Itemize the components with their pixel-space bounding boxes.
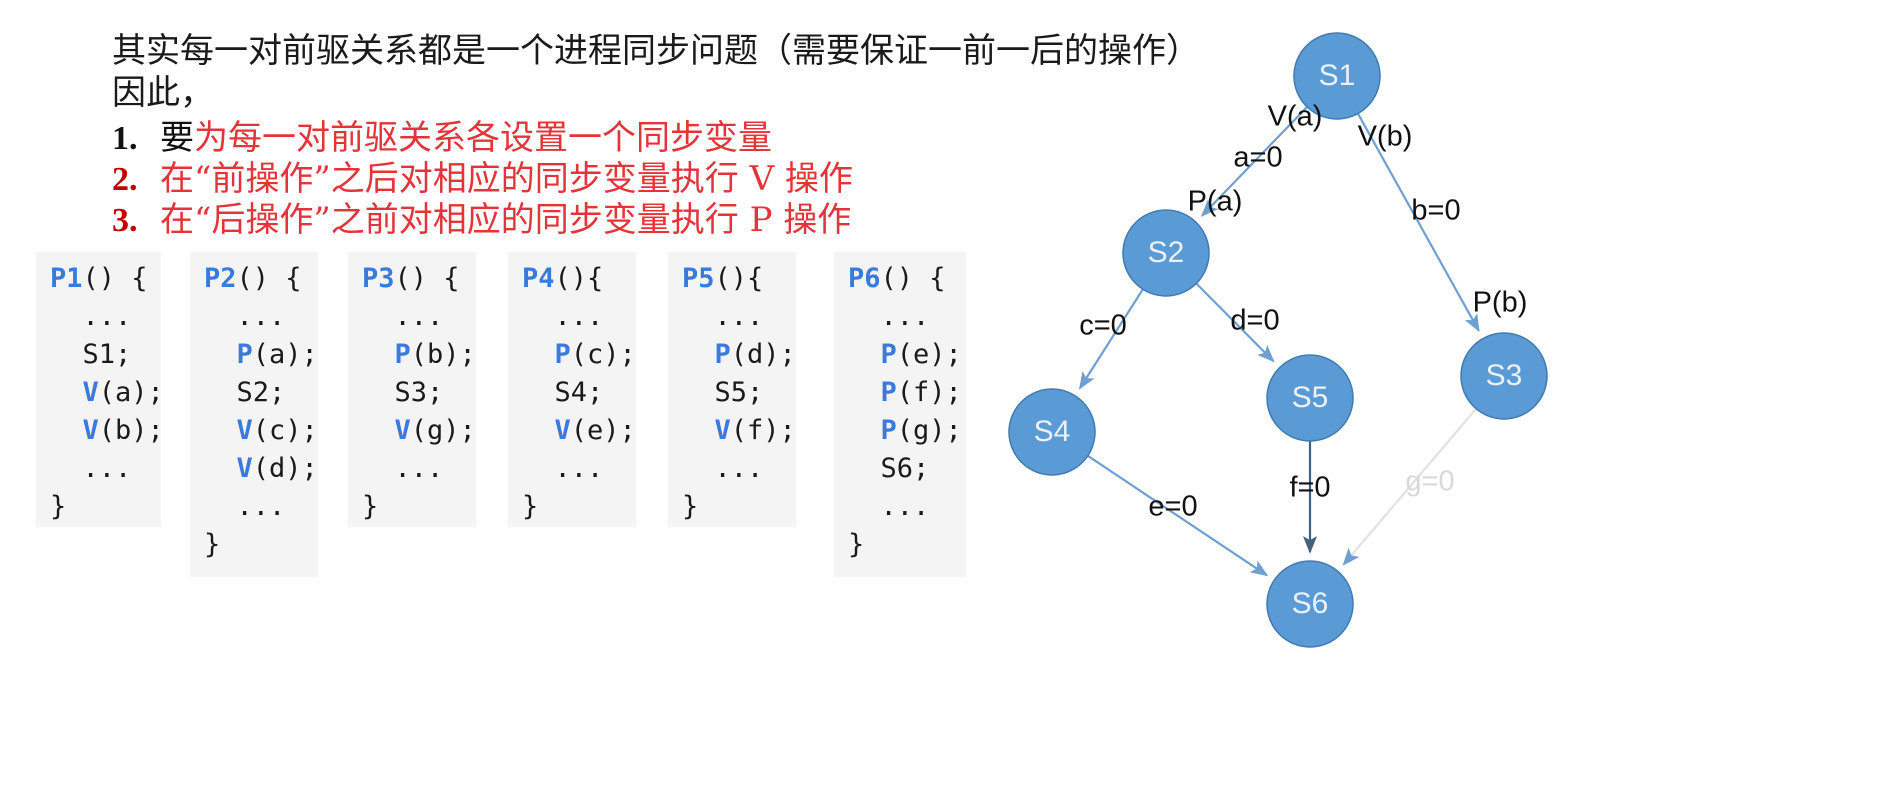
code-line: ... — [362, 298, 462, 336]
code-line: P5(){ — [682, 260, 782, 298]
code-text: S6; — [848, 453, 929, 484]
rule-item-body: 在“前操作”之后对相应的同步变量执行 V 操作 — [160, 159, 853, 199]
code-line: V(c); — [204, 412, 304, 450]
code-text: } — [204, 529, 220, 560]
code-line: P2() { — [204, 260, 304, 298]
code-line: ... — [362, 450, 462, 488]
code-text: S4; — [522, 377, 603, 408]
graph-node-label: S3 — [1486, 359, 1523, 392]
graph-node-label: S6 — [1292, 587, 1329, 620]
code-keyword: P — [848, 377, 897, 408]
code-line: ... — [848, 298, 952, 336]
code-text: (g); — [897, 415, 962, 446]
code-line: } — [522, 488, 622, 526]
code-text: ... — [848, 301, 929, 332]
code-text: ... — [848, 491, 929, 522]
code-line: S3; — [362, 374, 462, 412]
code-line: S1; — [50, 336, 147, 374]
edge-label: b=0 — [1411, 195, 1460, 227]
code-line: P(d); — [682, 336, 782, 374]
code-line: } — [50, 488, 147, 526]
code-keyword: P6 — [848, 263, 881, 294]
code-text: ... — [50, 301, 131, 332]
code-keyword: V — [204, 453, 253, 484]
code-text: } — [50, 491, 66, 522]
rule-item-text: 要为每一对前驱关系各设置一个同步变量 — [160, 118, 772, 159]
code-text: (c); — [253, 415, 318, 446]
code-text: S1; — [50, 339, 131, 370]
edge-label: d=0 — [1230, 305, 1279, 337]
code-keyword: P — [848, 339, 897, 370]
graph-node-label: S5 — [1292, 381, 1329, 414]
code-text: (b); — [99, 415, 164, 446]
edge-label: P(b) — [1473, 287, 1528, 319]
rule-item-body: 为每一对前驱关系各设置一个同步变量 — [194, 118, 772, 158]
code-text: } — [362, 491, 378, 522]
code-line: } — [204, 526, 304, 564]
code-keyword: P5 — [682, 263, 715, 294]
code-line: P(c); — [522, 336, 622, 374]
edge-label: f=0 — [1289, 472, 1330, 504]
code-line: S6; — [848, 450, 952, 488]
rule-item-text: 在“前操作”之后对相应的同步变量执行 V 操作 — [160, 159, 853, 200]
slide-canvas: 其实每一对前驱关系都是一个进程同步问题（需要保证一前一后的操作） 因此， 1.要… — [0, 0, 1885, 788]
code-line: P(g); — [848, 412, 952, 450]
code-line: ... — [204, 298, 304, 336]
edge-label: P(a) — [1188, 186, 1243, 218]
code-text: (a); — [99, 377, 164, 408]
rule-item-body: 在“后操作”之前对相应的同步变量执行 P 操作 — [160, 200, 851, 240]
code-keyword: P1 — [50, 263, 83, 294]
code-line: S2; — [204, 374, 304, 412]
code-text: (f); — [731, 415, 796, 446]
precedence-graph-svg: S1S2S3S4S5S6 V(a)a=0P(a)V(b)b=0P(b)c=0d=… — [960, 0, 1885, 788]
code-keyword: P2 — [204, 263, 237, 294]
code-text: } — [682, 491, 698, 522]
code-text: () { — [395, 263, 460, 294]
code-block-p5: P5(){ ... P(d); S5; V(f); ...} — [668, 252, 796, 527]
code-line: P1() { — [50, 260, 147, 298]
edge-label: a=0 — [1233, 142, 1282, 174]
code-keyword: V — [682, 415, 731, 446]
code-text: ... — [204, 491, 285, 522]
code-line: } — [362, 488, 462, 526]
rule-item-lead: 要 — [160, 118, 194, 158]
code-block-p6: P6() { ... P(e); P(f); P(g); S6; ...} — [834, 252, 966, 577]
code-line: P3() { — [362, 260, 462, 298]
code-line: ... — [204, 488, 304, 526]
code-text: (c); — [571, 339, 636, 370]
code-keyword: P — [848, 415, 897, 446]
code-text: (e); — [571, 415, 636, 446]
code-line: V(b); — [50, 412, 147, 450]
code-text: ... — [362, 301, 443, 332]
code-line: V(f); — [682, 412, 782, 450]
code-keyword: P — [362, 339, 411, 370]
code-text: S3; — [362, 377, 443, 408]
code-text: S5; — [682, 377, 763, 408]
code-text: ... — [362, 453, 443, 484]
code-line: S4; — [522, 374, 622, 412]
code-line: P(e); — [848, 336, 952, 374]
graph-edges-layer — [1080, 107, 1479, 575]
code-line: ... — [522, 450, 622, 488]
precedence-graph: S1S2S3S4S5S6 V(a)a=0P(a)V(b)b=0P(b)c=0d=… — [960, 0, 1885, 788]
code-keyword: V — [204, 415, 253, 446]
code-text: ... — [522, 301, 603, 332]
rule-item-text: 在“后操作”之前对相应的同步变量执行 P 操作 — [160, 200, 851, 241]
graph-edge-labels-layer: V(a)a=0P(a)V(b)b=0P(b)c=0d=0e=0f=0g=0 — [1079, 101, 1527, 523]
edge-label: g=0 — [1405, 466, 1454, 498]
code-keyword: V — [362, 415, 411, 446]
code-text: () { — [237, 263, 302, 294]
code-line: ... — [682, 298, 782, 336]
rule-item-number: 3. — [112, 200, 160, 241]
graph-node-label: S4 — [1034, 415, 1071, 448]
code-text: () { — [83, 263, 148, 294]
code-keyword: V — [50, 377, 99, 408]
code-text: (a); — [253, 339, 318, 370]
code-text: (){ — [715, 263, 764, 294]
code-block-p2: P2() { ... P(a); S2; V(c); V(d); ...} — [190, 252, 318, 577]
edge-label: c=0 — [1079, 310, 1127, 342]
edge-label: V(b) — [1358, 121, 1413, 153]
code-line: P(a); — [204, 336, 304, 374]
code-text: ... — [204, 301, 285, 332]
code-text: (b); — [411, 339, 476, 370]
code-block-p3: P3() { ... P(b); S3; V(g); ...} — [348, 252, 476, 527]
code-text: (f); — [897, 377, 962, 408]
code-text: } — [522, 491, 538, 522]
code-text: () { — [881, 263, 946, 294]
code-line: ... — [522, 298, 622, 336]
code-line: } — [848, 526, 952, 564]
code-keyword: V — [522, 415, 571, 446]
code-text: ... — [682, 453, 763, 484]
code-line: ... — [50, 298, 147, 336]
code-line: } — [682, 488, 782, 526]
code-text: (d); — [253, 453, 318, 484]
code-text: ... — [522, 453, 603, 484]
graph-node-label: S1 — [1319, 59, 1356, 92]
code-line: S5; — [682, 374, 782, 412]
code-line: V(a); — [50, 374, 147, 412]
code-line: V(g); — [362, 412, 462, 450]
code-line: ... — [50, 450, 147, 488]
code-text: ... — [682, 301, 763, 332]
code-line: V(e); — [522, 412, 622, 450]
code-text: (d); — [731, 339, 796, 370]
code-keyword: P3 — [362, 263, 395, 294]
code-line: ... — [848, 488, 952, 526]
code-keyword: P — [682, 339, 731, 370]
code-line: P(f); — [848, 374, 952, 412]
edge-label: V(a) — [1268, 101, 1323, 133]
code-text: S2; — [204, 377, 285, 408]
code-keyword: P — [204, 339, 253, 370]
code-line: V(d); — [204, 450, 304, 488]
code-text: (e); — [897, 339, 962, 370]
edge-label: e=0 — [1148, 491, 1197, 523]
code-block-p4: P4(){ ... P(c); S4; V(e); ...} — [508, 252, 636, 527]
rule-item-number: 1. — [112, 118, 160, 159]
code-line: P6() { — [848, 260, 952, 298]
code-text: ... — [50, 453, 131, 484]
code-line: P4(){ — [522, 260, 622, 298]
rule-item-number: 2. — [112, 159, 160, 200]
code-keyword: V — [50, 415, 99, 446]
code-line: ... — [682, 450, 782, 488]
code-keyword: P — [522, 339, 571, 370]
code-text: (g); — [411, 415, 476, 446]
graph-node-label: S2 — [1148, 236, 1185, 269]
code-keyword: P4 — [522, 263, 555, 294]
code-block-p1: P1() { ... S1; V(a); V(b); ...} — [36, 252, 161, 527]
code-line: P(b); — [362, 336, 462, 374]
code-text: } — [848, 529, 864, 560]
code-text: (){ — [555, 263, 604, 294]
